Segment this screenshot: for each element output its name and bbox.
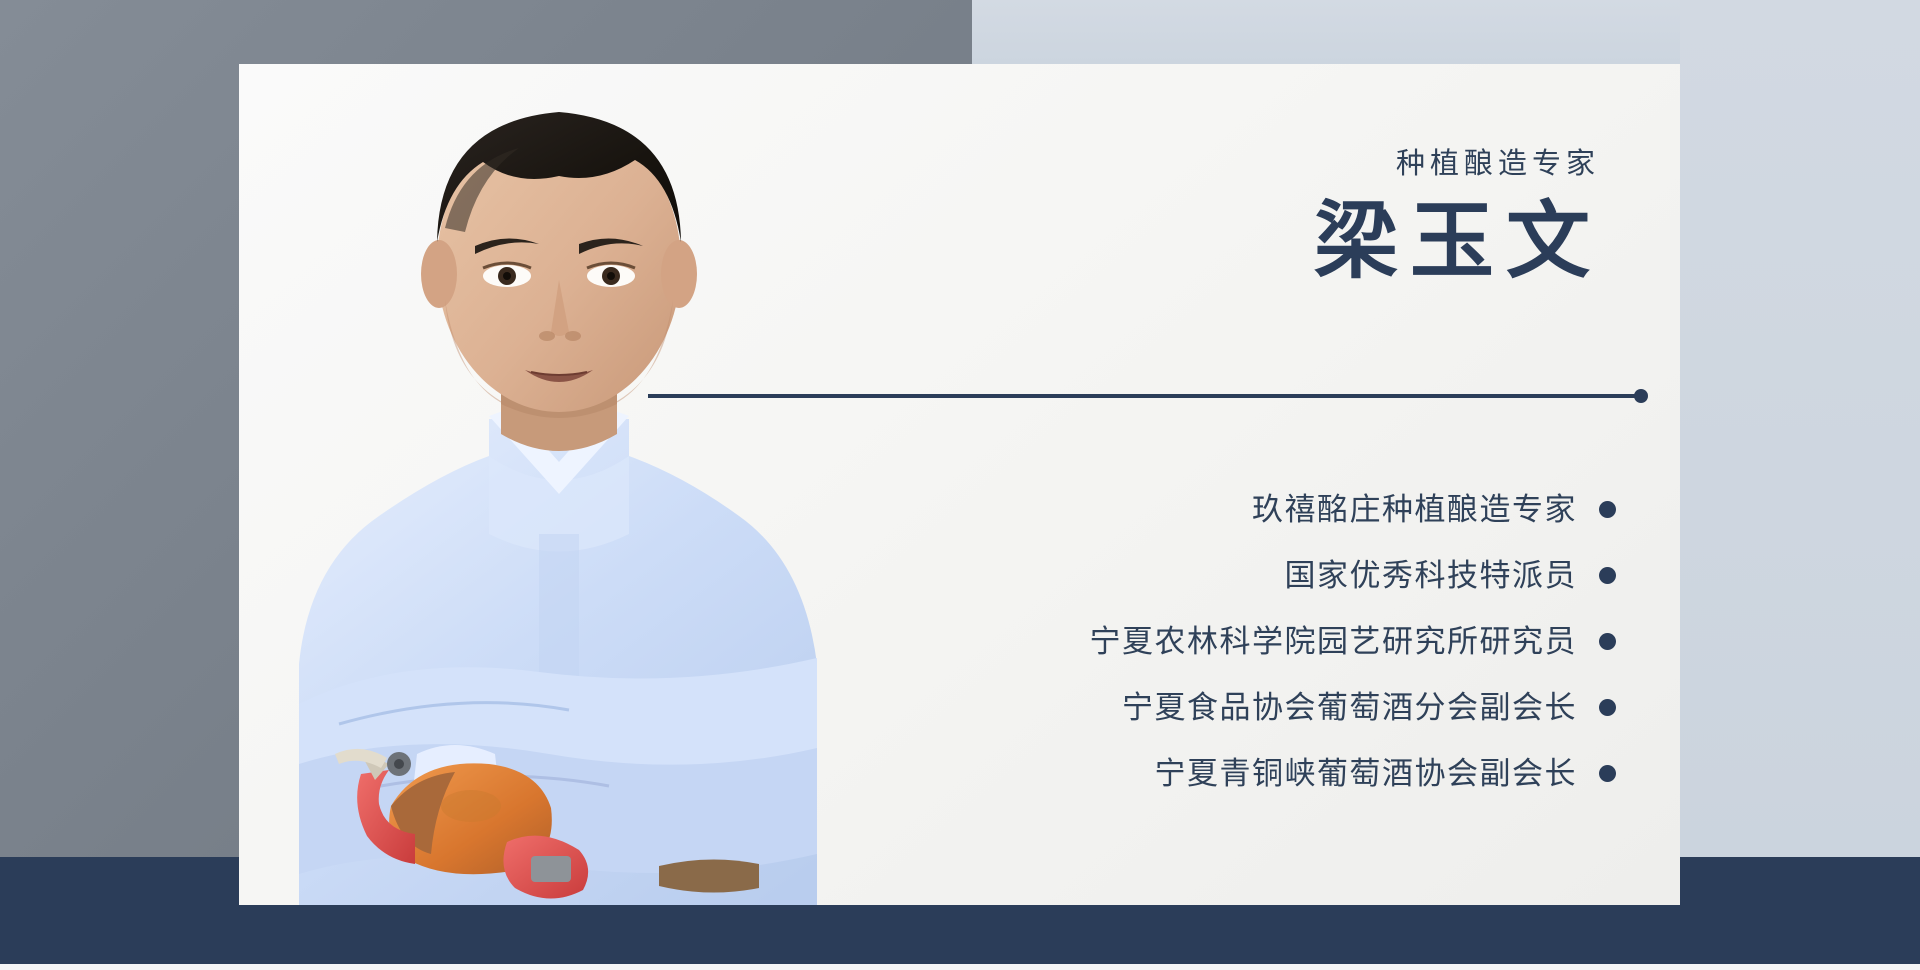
promo-banner: 种植酿造专家 梁玉文 玖禧酩庄种植酿造专家 国家优秀科技特派员 宁夏农林科学院园… xyxy=(0,0,1920,970)
background-bottom-edge xyxy=(0,964,1920,970)
list-item: 宁夏食品协会葡萄酒分会副会长 xyxy=(716,680,1616,734)
credential-label: 宁夏食品协会葡萄酒分会副会长 xyxy=(1122,692,1577,723)
page-title: 梁玉文 xyxy=(844,199,1604,287)
divider xyxy=(648,389,1648,403)
list-item: 玖禧酩庄种植酿造专家 xyxy=(716,482,1616,536)
credential-label: 宁夏青铜峡葡萄酒协会副会长 xyxy=(1155,758,1578,789)
list-item: 国家优秀科技特派员 xyxy=(716,548,1616,602)
list-item: 宁夏农林科学院园艺研究所研究员 xyxy=(716,614,1616,668)
eyebrow-title: 种植酿造专家 xyxy=(844,150,1604,179)
name-block: 种植酿造专家 梁玉文 xyxy=(844,150,1604,287)
divider-end-dot-icon xyxy=(1634,389,1648,403)
bullet-dot-icon xyxy=(1599,501,1616,518)
background-lightblue-right-panel xyxy=(1680,0,1920,860)
credential-label: 玖禧酩庄种植酿造专家 xyxy=(1252,494,1577,525)
bullet-dot-icon xyxy=(1599,699,1616,716)
bullet-dot-icon xyxy=(1599,633,1616,650)
credential-label: 国家优秀科技特派员 xyxy=(1285,560,1578,591)
profile-card: 种植酿造专家 梁玉文 玖禧酩庄种植酿造专家 国家优秀科技特派员 宁夏农林科学院园… xyxy=(239,64,1680,905)
credential-label: 宁夏农林科学院园艺研究所研究员 xyxy=(1090,626,1578,657)
bullet-dot-icon xyxy=(1599,765,1616,782)
divider-line xyxy=(648,394,1638,398)
credentials-list: 玖禧酩庄种植酿造专家 国家优秀科技特派员 宁夏农林科学院园艺研究所研究员 宁夏食… xyxy=(716,482,1616,800)
bullet-dot-icon xyxy=(1599,567,1616,584)
list-item: 宁夏青铜峡葡萄酒协会副会长 xyxy=(716,746,1616,800)
